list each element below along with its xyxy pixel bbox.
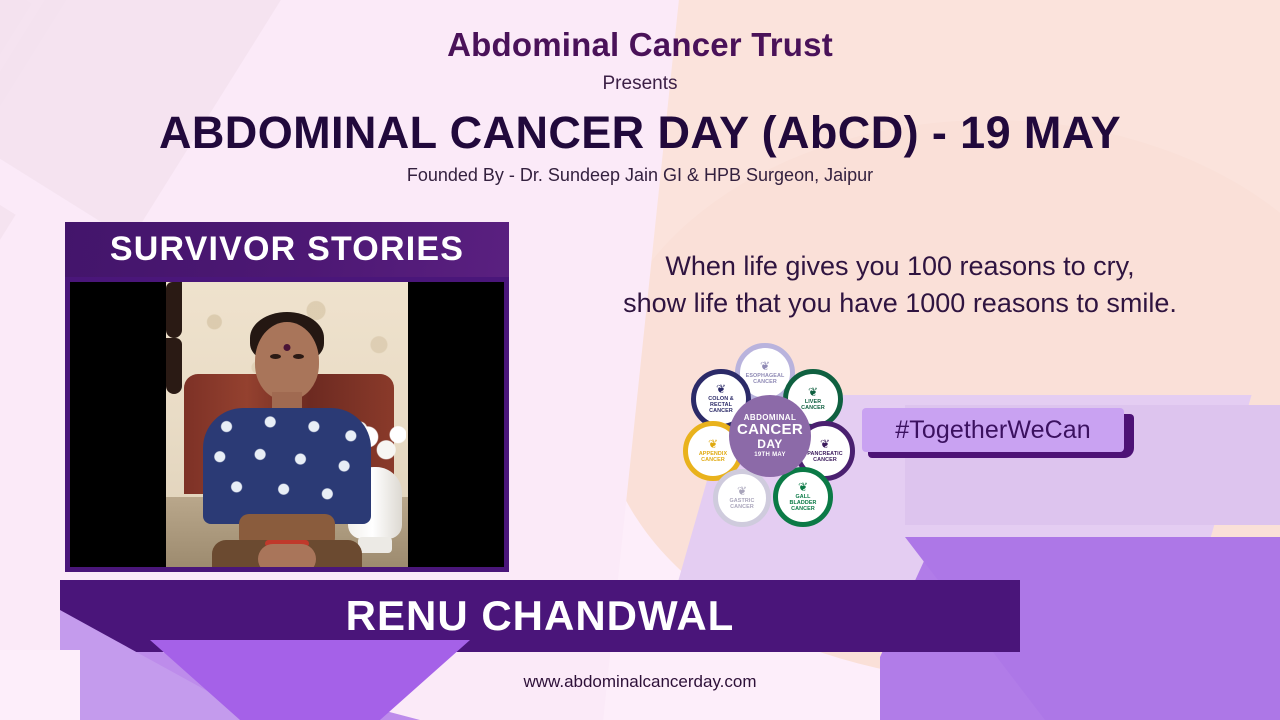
footer-website[interactable]: www.abdominalcancerday.com	[0, 672, 1280, 692]
ribbon-icon: ❦	[737, 485, 747, 497]
person-head	[255, 322, 319, 400]
logo-core-line2: CANCER	[737, 422, 803, 437]
petal-label-line2: CANCER	[701, 458, 725, 464]
petal-label-line3: CANCER	[791, 507, 815, 513]
person-hands	[258, 544, 316, 567]
ribbon-icon: ❦	[798, 481, 808, 493]
petal-label-line2: CANCER	[730, 505, 754, 511]
organization-title: Abdominal Cancer Trust	[0, 26, 1280, 64]
founder-credit: Founded By - Dr. Sundeep Jain GI & HPB S…	[0, 165, 1280, 186]
event-title: ABDOMINAL CANCER DAY (AbCD) - 19 MAY	[0, 107, 1280, 159]
hashtag-banner-body: #TogetherWeCan	[862, 408, 1124, 452]
petal-label-line3: CANCER	[709, 409, 733, 415]
survivor-stories-label: SURVIVOR STORIES	[110, 230, 464, 269]
video-letterbox	[70, 282, 504, 567]
ribbon-icon: ❦	[820, 438, 830, 450]
person-bindi	[284, 344, 291, 351]
person-eye-right	[293, 354, 304, 359]
survivor-stories-header: SURVIVOR STORIES	[65, 222, 509, 277]
petal-label-line2: CANCER	[801, 406, 825, 412]
presents-label: Presents	[0, 73, 1280, 95]
survivor-name: RENU CHANDWAL	[346, 592, 735, 640]
petal-label-line2: CANCER	[753, 380, 777, 386]
survivor-portrait-photo	[166, 282, 408, 567]
quote-line-1: When life gives you 100 reasons to cry,	[520, 248, 1280, 285]
ribbon-icon: ❦	[760, 360, 770, 372]
logo-core-date: 19TH MAY	[754, 452, 786, 458]
petal-gastric-cancer: ❦ GASTRIC CANCER	[713, 469, 771, 527]
abcd-flower-logo: ❦ ESOPHAGEAL CANCER ❦ COLON & RECTAL CAN…	[685, 343, 860, 528]
hashtag-text: #TogetherWeCan	[895, 416, 1091, 445]
petal-gall-bladder-cancer: ❦ GALL BLADDER CANCER	[773, 467, 833, 527]
inspirational-quote: When life gives you 100 reasons to cry, …	[520, 248, 1280, 321]
ribbon-icon: ❦	[808, 386, 818, 398]
person-eye-left	[270, 354, 281, 359]
petal-label-line2: CANCER	[813, 458, 837, 464]
ribbon-icon: ❦	[716, 383, 726, 395]
hashtag-banner: #TogetherWeCan	[862, 408, 1134, 458]
ribbon-icon: ❦	[708, 438, 718, 450]
logo-center-badge: ABDOMINAL CANCER DAY 19TH MAY	[729, 395, 811, 477]
poster-header: Abdominal Cancer Trust Presents ABDOMINA…	[0, 0, 1280, 186]
logo-core-line3: DAY	[757, 438, 782, 450]
person-torso-printed-top	[203, 408, 371, 524]
survivor-video-frame[interactable]	[65, 277, 509, 572]
poster-stage: Abdominal Cancer Trust Presents ABDOMINA…	[0, 0, 1280, 720]
quote-line-2: show life that you have 1000 reasons to …	[520, 285, 1280, 322]
